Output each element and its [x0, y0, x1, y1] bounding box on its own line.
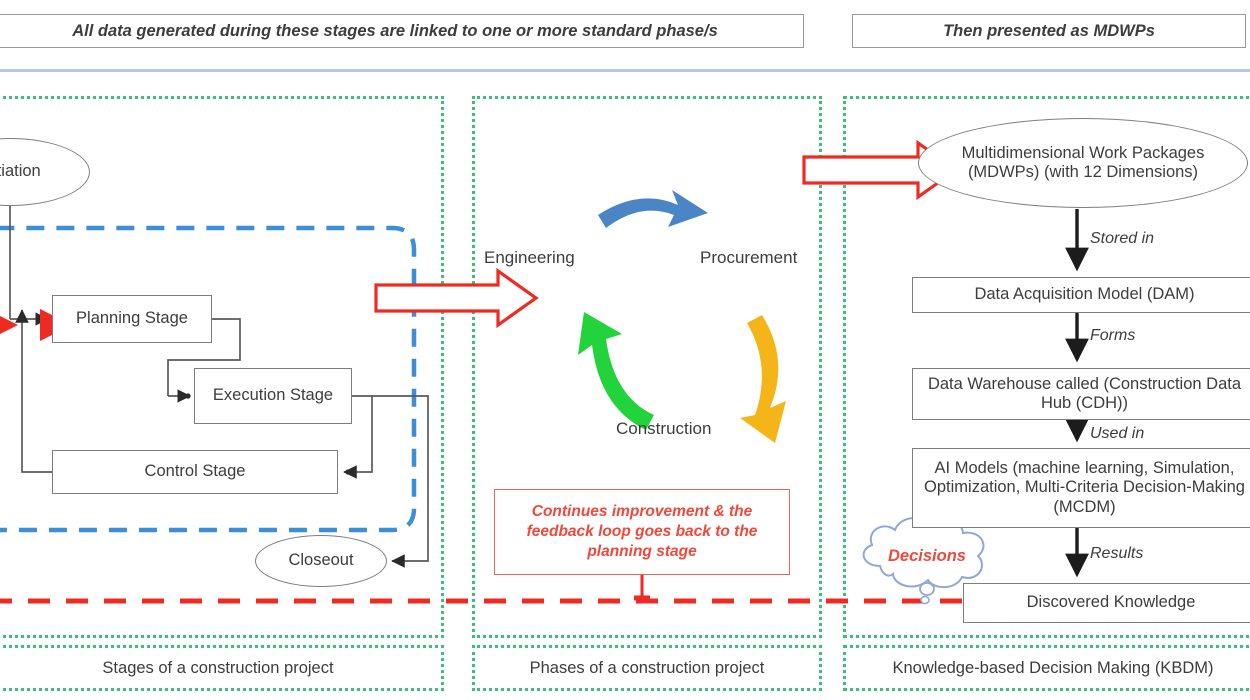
cycle-label-construction: Construction — [616, 419, 711, 439]
panel-caption-kbdm: Knowledge-based Decision Making (KBDM) — [843, 645, 1250, 691]
node-planning-stage[interactable]: Planning Stage — [52, 295, 212, 343]
cycle-label-procurement: Procurement — [700, 248, 797, 268]
decisions-label: Decisions — [872, 547, 982, 566]
panel-caption-phases: Phases of a construction project — [472, 645, 822, 691]
cycle-label-engineering: Engineering — [484, 248, 575, 268]
arrow-caption-stored-in: Stored in — [1090, 230, 1154, 248]
cycle-arrow-green — [578, 312, 654, 430]
node-mdwp[interactable]: Multidimensional Work Packages (MDWPs) (… — [918, 118, 1248, 208]
node-control-stage[interactable]: Control Stage — [52, 450, 338, 494]
feedback-loop-note: Continues improvement & the feedback loo… — [494, 489, 790, 575]
cycle-arrow-blue — [598, 190, 708, 228]
node-discovered-knowledge[interactable]: Discovered Knowledge — [963, 583, 1250, 623]
panel-caption-stages: Stages of a construction project — [0, 645, 444, 691]
node-closeout[interactable]: Closeout — [255, 535, 387, 587]
arrow-caption-forms: Forms — [1090, 327, 1135, 345]
node-execution-stage[interactable]: Execution Stage — [194, 368, 352, 424]
node-data-acquisition-model[interactable]: Data Acquisition Model (DAM) — [912, 277, 1250, 313]
cycle-arrow-yellow — [740, 315, 786, 443]
node-ai-models[interactable]: AI Models (machine learning, Simulation,… — [912, 448, 1250, 528]
arrow-caption-results: Results — [1090, 545, 1143, 563]
node-data-warehouse[interactable]: Data Warehouse called (Construction Data… — [912, 368, 1250, 420]
red-block-arrow-to-phases — [376, 271, 536, 325]
arrow-caption-used-in: Used in — [1090, 425, 1144, 443]
diagram-canvas: All data generated during these stages a… — [0, 0, 1250, 700]
